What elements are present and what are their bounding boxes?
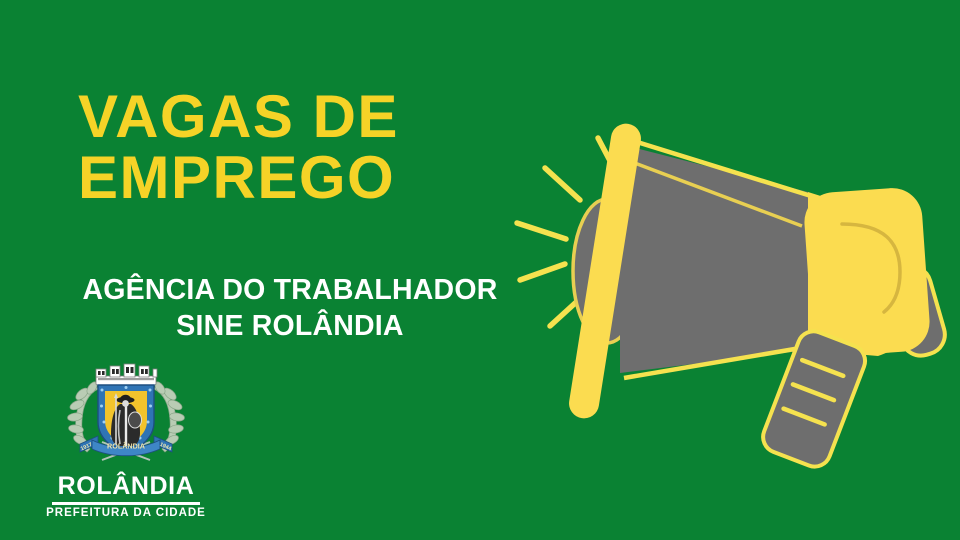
headline-line-2: EMPREGO xyxy=(78,147,538,208)
brand-block: ROLÂNDIA 1917 1944 ROLÂNDIA PREFEITURA D… xyxy=(36,360,216,519)
headline-line-1: VAGAS DE xyxy=(78,86,538,147)
subtitle-line-1: AGÊNCIA DO TRABALHADOR xyxy=(0,272,580,308)
page-subtitle: AGÊNCIA DO TRABALHADOR SINE ROLÂNDIA xyxy=(0,272,580,345)
brand-name: ROLÂNDIA xyxy=(36,474,216,499)
crown-icon xyxy=(96,364,157,385)
megaphone-horn xyxy=(620,144,808,373)
megaphone-icon xyxy=(512,96,960,488)
poster-canvas: VAGAS DE EMPREGO AGÊNCIA DO TRABALHADOR … xyxy=(0,0,960,540)
coat-of-arms-icon: ROLÂNDIA 1917 1944 xyxy=(36,360,216,472)
brand-tagline: PREFEITURA DA CIDADE xyxy=(36,508,216,520)
brand-divider xyxy=(52,502,200,505)
ribbon-center-text: ROLÂNDIA xyxy=(107,442,145,451)
subtitle-line-2: SINE ROLÂNDIA xyxy=(0,308,580,344)
page-title: VAGAS DE EMPREGO xyxy=(78,86,538,208)
